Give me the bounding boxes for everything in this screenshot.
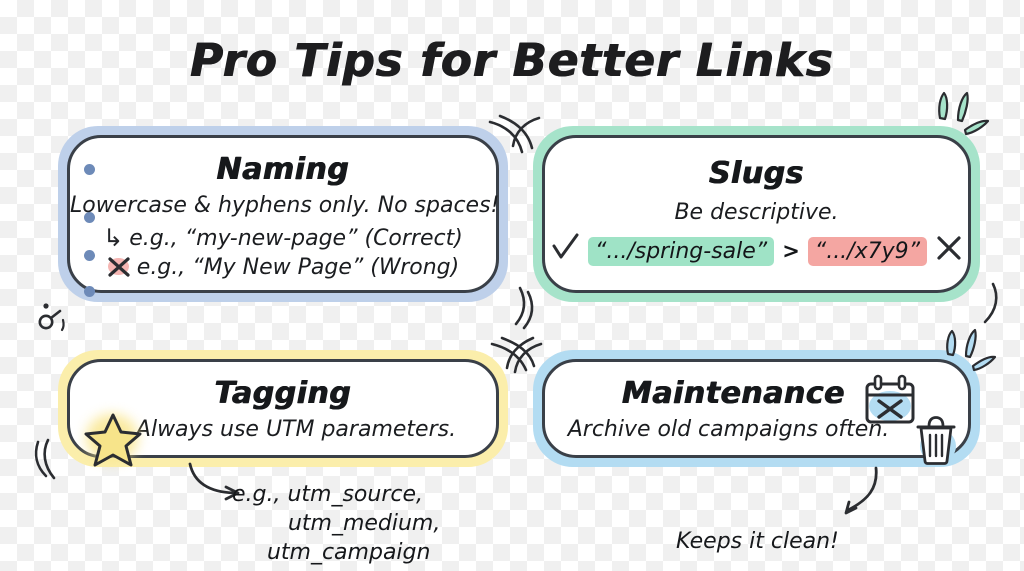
trash-icon (912, 414, 960, 466)
annotation-clean-note: Keeps it clean! (676, 527, 839, 556)
slug-bad-example: “.../x7y9” (808, 237, 927, 266)
card-naming-line1: Lowercase & hyphens only. No spaces! (70, 193, 496, 218)
card-slugs-line1: Be descriptive. (545, 200, 968, 225)
arrow-hook-icon: ↳ (103, 224, 123, 252)
slug-comparator: > (782, 239, 800, 263)
card-slugs-inner: Slugs Be descriptive. “.../spring-sale” … (542, 135, 971, 293)
star-icon (82, 410, 144, 468)
card-naming[interactable]: Naming Lowercase & hyphens only. No spac… (58, 126, 508, 302)
card-maintenance-inner: Maintenance Archive old campaigns often. (542, 359, 971, 458)
sparkle-icon (928, 88, 992, 144)
card-naming-inner: Naming Lowercase & hyphens only. No spac… (67, 135, 499, 293)
card-naming-line2-row: ↳e.g., “my-new-page” (Correct) (70, 223, 496, 251)
doodle-squiggle-icon (36, 300, 80, 340)
card-naming-line2: e.g., “my-new-page” (Correct) (129, 226, 463, 251)
poster-canvas: Pro Tips for Better Links Naming Lowerca… (0, 0, 1024, 571)
card-maintenance[interactable]: Maintenance Archive old campaigns often. (533, 350, 980, 467)
card-slugs-comparison: “.../spring-sale” > “.../x7y9” (545, 233, 968, 269)
red-x-icon (107, 257, 131, 277)
card-naming-title: Naming (70, 152, 496, 187)
annotation-utm-note: e.g., utm_source, utm_medium, utm_campai… (232, 480, 440, 567)
card-naming-line3: e.g., “My New Page” (Wrong) (137, 255, 459, 280)
card-naming-body: Naming Lowercase & hyphens only. No spac… (70, 152, 496, 280)
card-tagging[interactable]: Tagging Always use UTM parameters. (58, 350, 508, 467)
page-title: Pro Tips for Better Links (0, 34, 1024, 87)
card-tagging-inner: Tagging Always use UTM parameters. (67, 359, 499, 458)
sketch-accent-lines (476, 286, 536, 336)
sketch-accent-lines (505, 112, 565, 172)
card-naming-line3-row: e.g., “My New Page” (Wrong) (70, 255, 496, 280)
bullet-dot (84, 286, 95, 297)
card-slugs[interactable]: Slugs Be descriptive. “.../spring-sale” … (533, 126, 980, 302)
sketch-accent-lines (32, 438, 88, 488)
curved-arrow-icon (820, 466, 880, 524)
check-icon (550, 233, 580, 269)
card-slugs-title: Slugs (545, 156, 968, 191)
card-slugs-body: Slugs Be descriptive. “.../spring-sale” … (545, 156, 968, 269)
card-tagging-title: Tagging (70, 376, 496, 411)
x-icon (935, 234, 963, 268)
sketch-accent-lines (503, 336, 567, 396)
calendar-x-icon (860, 374, 920, 430)
slug-good-example: “.../spring-sale” (588, 237, 774, 266)
sparkle-icon (938, 326, 1000, 378)
